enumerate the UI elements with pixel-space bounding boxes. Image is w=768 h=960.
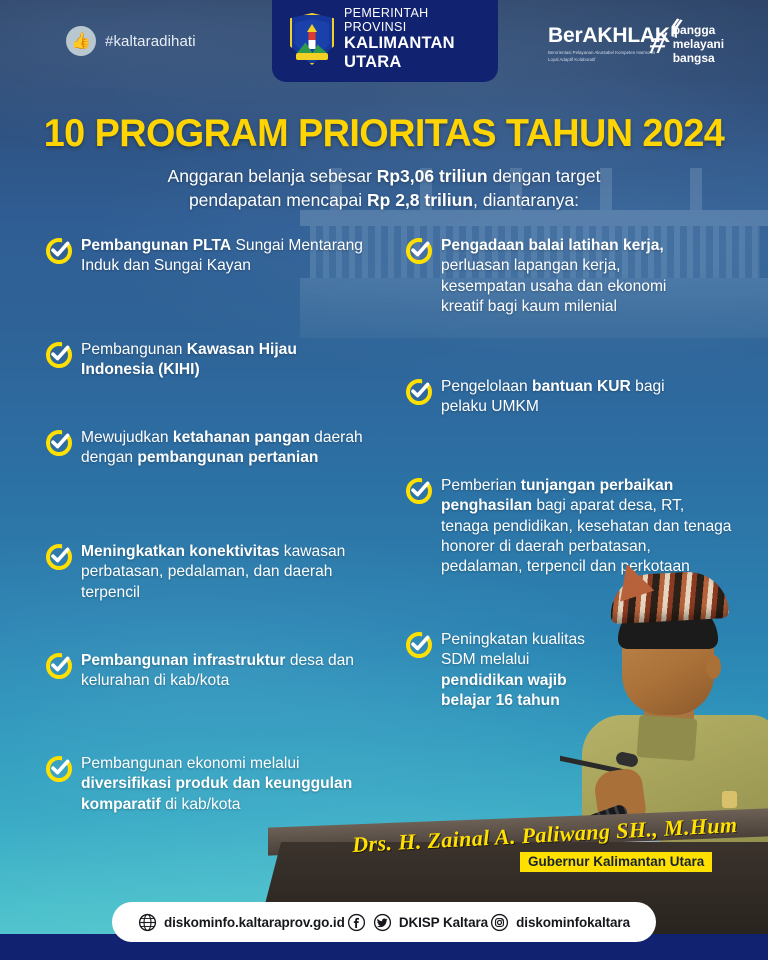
program-text: Pemberian tunjangan perbaikan penghasila… (441, 476, 736, 577)
program-text: Pembangunan infrastruktur desa dan kelur… (81, 651, 381, 692)
program-item: Pengelolaan bantuan KUR bagi pelaku UMKM (406, 377, 696, 418)
bangga-line-1: bangga (673, 23, 724, 37)
program-text: Pembangunan Kawasan Hijau Indonesia (KIH… (81, 340, 346, 381)
program-text: Pembangunan PLTA Sungai Mentarang Induk … (81, 236, 376, 277)
program-text: Pengelolaan bantuan KUR bagi pelaku UMKM (441, 377, 696, 418)
check-circle-icon (46, 653, 72, 679)
check-circle-icon (406, 238, 432, 264)
hashtag-label: #kaltaradihati (105, 33, 196, 50)
footer-contact-pill: diskominfo.kaltaraprov.go.id DKISP Kalta… (112, 902, 656, 942)
instagram-label: diskominfokaltara (516, 915, 630, 930)
subtitle-line1-pre: Anggaran belanja sebesar (168, 166, 377, 186)
government-identity-card: PEMERINTAH PROVINSI KALIMANTAN UTARA (272, 0, 498, 82)
governor-title-badge: Gubernur Kalimantan Utara (520, 852, 712, 872)
check-circle-icon (406, 478, 432, 504)
program-item: Pembangunan PLTA Sungai Mentarang Induk … (46, 236, 376, 277)
program-item: Pembangunan Kawasan Hijau Indonesia (KIH… (46, 340, 346, 381)
check-circle-icon (46, 238, 72, 264)
facebook-icon (347, 913, 366, 932)
thumbs-up-icon: 👍 (66, 26, 96, 56)
header-bar: 👍 #kaltaradihati PEMERINTAH PROVINSI KAL… (0, 0, 768, 95)
program-item: Pembangunan ekonomi melalui diversifikas… (46, 754, 386, 815)
bangga-melayani-bangsa-logo: # bangga melayani bangsa (650, 23, 724, 65)
budget-spending-amount: Rp3,06 triliun (377, 166, 488, 186)
bangga-line-2: melayani (673, 37, 724, 51)
check-circle-icon (46, 430, 72, 456)
program-item: Peningkatan kualitas SDM melalui pendidi… (406, 630, 586, 711)
website-label: diskominfo.kaltaraprov.go.id (164, 915, 345, 930)
program-item: Mewujudkan ketahanan pangan daerah denga… (46, 428, 366, 469)
check-circle-icon (406, 632, 432, 658)
program-text: Pengadaan balai latihan kerja, perluasan… (441, 236, 698, 317)
footer-social[interactable]: DKISP Kaltara (347, 913, 488, 932)
program-item: Meningkatkan konektivitas kawasan perbat… (46, 542, 381, 603)
program-item: Pengadaan balai latihan kerja, perluasan… (406, 236, 698, 317)
kaltara-provincial-emblem-icon (290, 13, 334, 65)
subtitle-line2-pre: pendapatan mencapai (189, 190, 367, 210)
budget-revenue-amount: Rp 2,8 triliun (367, 190, 473, 210)
program-text: Meningkatkan konektivitas kawasan perbat… (81, 542, 381, 603)
check-circle-icon (46, 544, 72, 570)
budget-subtitle: Anggaran belanja sebesar Rp3,06 triliun … (0, 164, 768, 212)
gov-line-2: KALIMANTAN UTARA (344, 34, 484, 72)
program-item: Pembangunan infrastruktur desa dan kelur… (46, 651, 381, 692)
check-circle-icon (46, 756, 72, 782)
subtitle-line1-post: dengan target (488, 166, 601, 186)
twitter-icon (373, 913, 392, 932)
program-text: Mewujudkan ketahanan pangan daerah denga… (81, 428, 366, 469)
program-text: Pembangunan ekonomi melalui diversifikas… (81, 754, 386, 815)
social-label: DKISP Kaltara (399, 915, 488, 930)
gov-line-1: PEMERINTAH PROVINSI (344, 6, 484, 35)
hash-mark-icon: # (647, 29, 670, 59)
bangga-line-3: bangsa (673, 51, 724, 65)
infographic-poster: 👍 #kaltaradihati PEMERINTAH PROVINSI KAL… (0, 0, 768, 960)
globe-icon (138, 913, 157, 932)
hashtag-badge: 👍 #kaltaradihati (66, 26, 196, 56)
footer-instagram[interactable]: diskominfokaltara (490, 913, 630, 932)
instagram-icon (490, 913, 509, 932)
check-circle-icon (406, 379, 432, 405)
subtitle-line2-post: , diantaranya: (473, 190, 579, 210)
check-circle-icon (46, 342, 72, 368)
footer-website[interactable]: diskominfo.kaltaraprov.go.id (138, 913, 345, 932)
title-block: 10 PROGRAM PRIORITAS TAHUN 2024 Anggaran… (0, 112, 768, 212)
program-item: Pemberian tunjangan perbaikan penghasila… (406, 476, 736, 577)
page-title: 10 PROGRAM PRIORITAS TAHUN 2024 (12, 112, 757, 156)
